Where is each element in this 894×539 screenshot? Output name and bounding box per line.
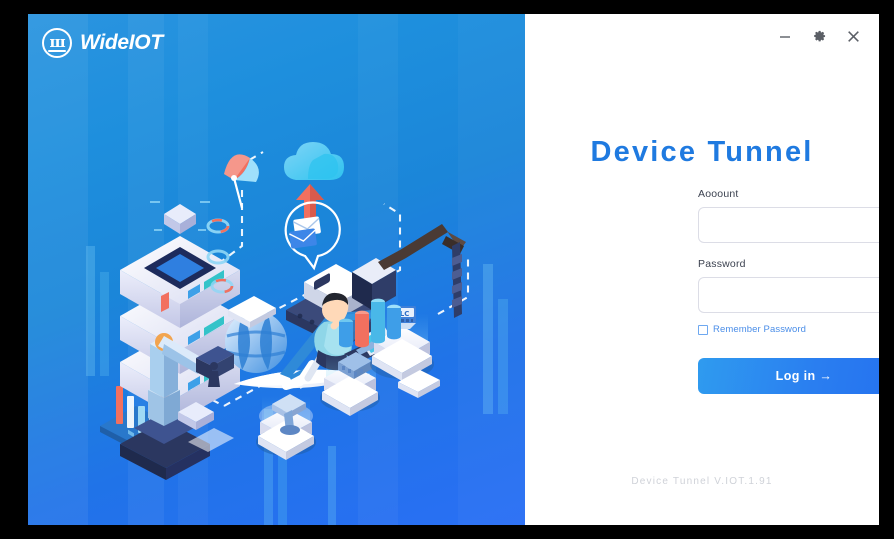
settings-button[interactable] — [809, 26, 829, 46]
gear-icon — [812, 29, 827, 44]
minimize-icon — [778, 29, 792, 43]
app-window: PLC — [28, 14, 879, 525]
iot-illustration: PLC — [28, 14, 525, 525]
close-icon — [846, 29, 861, 44]
brand-name: WideIOT — [80, 31, 163, 55]
brand-mark-icon: ш — [42, 28, 72, 58]
account-field-group: Aooount — [698, 188, 879, 243]
login-panel: Device Tunnel Aooount Password Remember … — [525, 14, 879, 525]
brand-mark-underline — [48, 50, 66, 52]
minimize-button[interactable] — [775, 26, 795, 46]
window-controls — [775, 26, 863, 46]
remember-password-label: Remember Password — [713, 324, 806, 335]
login-form: Aooount Password Remember Password Log i… — [698, 188, 879, 394]
account-label: Aooount — [698, 188, 879, 200]
password-input[interactable] — [698, 277, 879, 313]
page-title: Device Tunnel — [525, 136, 879, 169]
screen-background: PLC — [0, 0, 894, 539]
brand-logo: ш WideIOT — [42, 28, 163, 58]
password-label: Password — [698, 258, 879, 270]
login-button[interactable]: Log in → — [698, 358, 879, 394]
password-field-group: Password — [698, 258, 879, 313]
version-text: Device Tunnel V.IOT.1.91 — [525, 476, 879, 487]
remember-password-checkbox[interactable] — [698, 325, 708, 335]
account-input[interactable] — [698, 207, 879, 243]
brand-mark-glyph: ш — [49, 35, 64, 50]
remember-password-row[interactable]: Remember Password — [698, 324, 879, 335]
close-button[interactable] — [843, 26, 863, 46]
illustration-panel: PLC — [28, 14, 525, 525]
